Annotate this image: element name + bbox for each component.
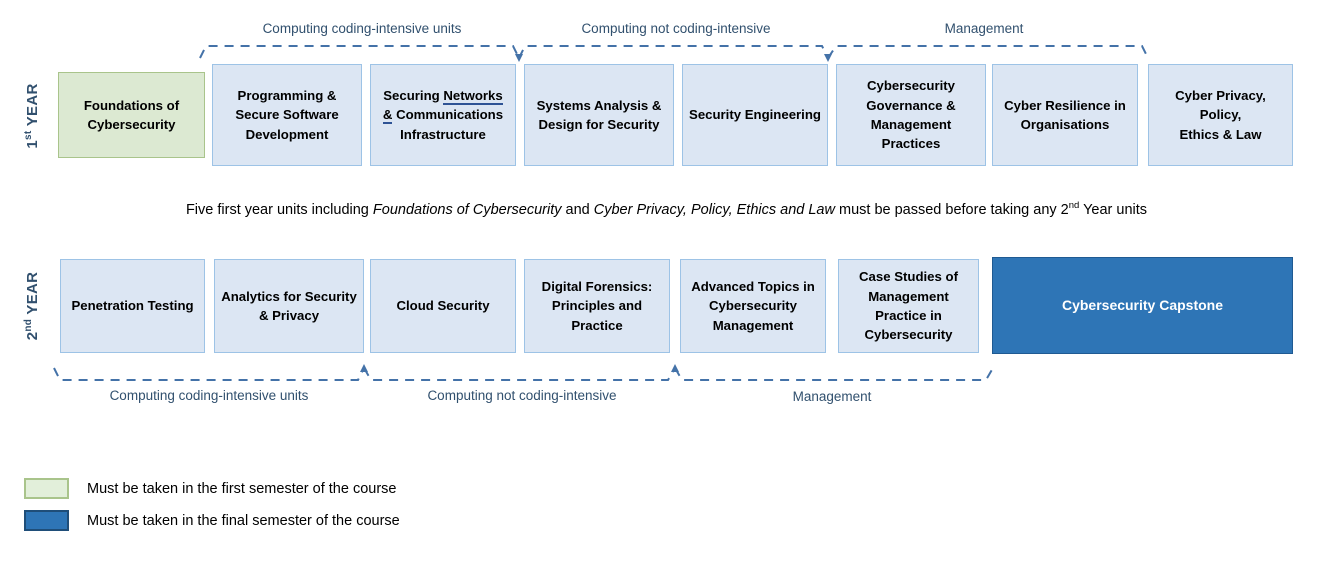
unit-line-1: Security Engineering — [689, 105, 821, 124]
unit-line-1: Programming & — [235, 86, 338, 105]
year-1-bracket-label-not-coding: Computing not coding-intensive — [524, 21, 828, 36]
unit-line-1: Securing Networks — [383, 86, 503, 105]
bracket-arrow-1 — [515, 54, 523, 62]
legend-swatch-blue — [24, 510, 69, 531]
unit-line-4: Practices — [866, 134, 955, 153]
bracket-arrow-3 — [360, 364, 368, 372]
unit-line-1: Cloud Security — [396, 296, 489, 315]
unit-box-cyber-privacy-policy-ethics-law[interactable]: Cyber Privacy, Policy, Ethics & Law — [1148, 64, 1293, 166]
legend-label-final-semester: Must be taken in the final semester of t… — [87, 513, 400, 529]
unit-line-3: Management — [866, 115, 955, 134]
unit-line-3: Infrastructure — [383, 125, 503, 144]
unit-line-3: Practice — [542, 316, 653, 335]
year-2-side-label: 2nd YEAR — [23, 256, 41, 356]
unit-line-2: & Privacy — [221, 306, 357, 325]
unit-line-4: Cybersecurity — [859, 325, 958, 344]
year-2-word: YEAR — [24, 272, 41, 319]
unit-box-advanced-topics-in-cybersecurity-management[interactable]: Advanced Topics in Cybersecurity Managem… — [680, 259, 826, 353]
unit-box-security-engineering[interactable]: Security Engineering — [682, 64, 828, 166]
unit-line-3: Management — [691, 316, 815, 335]
year-1-bracket-label-coding: Computing coding-intensive units — [206, 21, 518, 36]
unit-line-1: Cybersecurity — [866, 76, 955, 95]
unit-line-2: Cybersecurity — [84, 115, 179, 134]
unit-line-2: Secure Software — [235, 105, 338, 124]
diagram-canvas: 1st YEAR Computing coding-intensive unit… — [0, 0, 1333, 576]
unit-line-1: Case Studies of — [859, 267, 958, 286]
note-italic-1: Foundations of Cybersecurity — [373, 202, 562, 218]
note-part-1: Five first year units including — [186, 202, 373, 218]
unit-line-2: Organisations — [1004, 115, 1126, 134]
year-1-side-label: 1st YEAR — [23, 66, 41, 166]
unit-box-analytics-for-security-privacy[interactable]: Analytics for Security & Privacy — [214, 259, 364, 353]
year-1-ordinal: st — [23, 130, 34, 140]
unit-line-2: Design for Security — [537, 115, 662, 134]
unit-line-1: Penetration Testing — [71, 296, 193, 315]
unit-box-cybersecurity-governance-management-practices[interactable]: Cybersecurity Governance & Management Pr… — [836, 64, 986, 166]
unit-line-3: Practice in — [859, 306, 958, 325]
prerequisite-note: Five first year units including Foundati… — [0, 200, 1333, 218]
legend-item-final-semester: Must be taken in the final semester of t… — [24, 510, 400, 531]
unit-box-foundations-of-cybersecurity[interactable]: Foundations of Cybersecurity — [58, 72, 205, 158]
unit-box-digital-forensics-principles-and-practice[interactable]: Digital Forensics: Principles and Practi… — [524, 259, 670, 353]
bracket-arrow-4 — [671, 364, 679, 372]
unit-line-2: Management — [859, 287, 958, 306]
note-part-3: must be passed before taking any 2 — [835, 202, 1069, 218]
unit-line-2: Ethics & Law — [1155, 125, 1286, 144]
note-ordinal: nd — [1069, 200, 1080, 211]
note-part-4: Year units — [1079, 202, 1147, 218]
legend-item-first-semester: Must be taken in the first semester of t… — [24, 478, 396, 499]
year-2-ordinal: nd — [23, 319, 34, 332]
year-1-number: 1 — [24, 140, 41, 149]
note-part-2: and — [562, 202, 594, 218]
unit-line-3: Development — [235, 125, 338, 144]
unit-line-1: Cyber Privacy, Policy, — [1155, 86, 1286, 125]
unit-line-1: Systems Analysis & — [537, 96, 662, 115]
unit-box-penetration-testing[interactable]: Penetration Testing — [60, 259, 205, 353]
unit-box-programming-secure-software-development[interactable]: Programming & Secure Software Developmen… — [212, 64, 362, 166]
unit-line-1: Digital Forensics: — [542, 277, 653, 296]
unit-line-1: Advanced Topics in — [691, 277, 815, 296]
unit-box-case-studies-of-management-practice-in-cybersecurity[interactable]: Case Studies of Management Practice in C… — [838, 259, 979, 353]
unit-line-2: Cybersecurity — [691, 296, 815, 315]
unit-line-2: & Communications — [383, 105, 503, 124]
unit-box-systems-analysis-design-for-security[interactable]: Systems Analysis & Design for Security — [524, 64, 674, 166]
unit-line-2: Governance & — [866, 96, 955, 115]
legend-swatch-green — [24, 478, 69, 499]
year-2-bracket-label-management: Management — [682, 389, 982, 404]
legend-label-first-semester: Must be taken in the first semester of t… — [87, 481, 396, 497]
unit-line-1: Foundations of — [84, 96, 179, 115]
unit-box-cybersecurity-capstone[interactable]: Cybersecurity Capstone — [992, 257, 1293, 354]
year-2-bracket-label-coding: Computing coding-intensive units — [60, 388, 358, 403]
unit-line-1: Analytics for Security — [221, 287, 357, 306]
unit-line-1: Cybersecurity Capstone — [1062, 295, 1223, 315]
year-2-bracket-label-not-coding: Computing not coding-intensive — [370, 388, 674, 403]
year-2-number: 2 — [24, 332, 41, 341]
note-italic-2: Cyber Privacy, Policy, Ethics and Law — [594, 202, 835, 218]
unit-box-cyber-resilience-in-organisations[interactable]: Cyber Resilience in Organisations — [992, 64, 1138, 166]
unit-box-cloud-security[interactable]: Cloud Security — [370, 259, 516, 353]
year-1-bracket-label-management: Management — [836, 21, 1132, 36]
bracket-arrow-2 — [824, 54, 832, 62]
unit-line-1: Cyber Resilience in — [1004, 96, 1126, 115]
unit-line-2: Principles and — [542, 296, 653, 315]
unit-box-securing-networks-communications-infrastructure[interactable]: Securing Networks & Communications Infra… — [370, 64, 516, 166]
year-1-word: YEAR — [24, 83, 41, 130]
